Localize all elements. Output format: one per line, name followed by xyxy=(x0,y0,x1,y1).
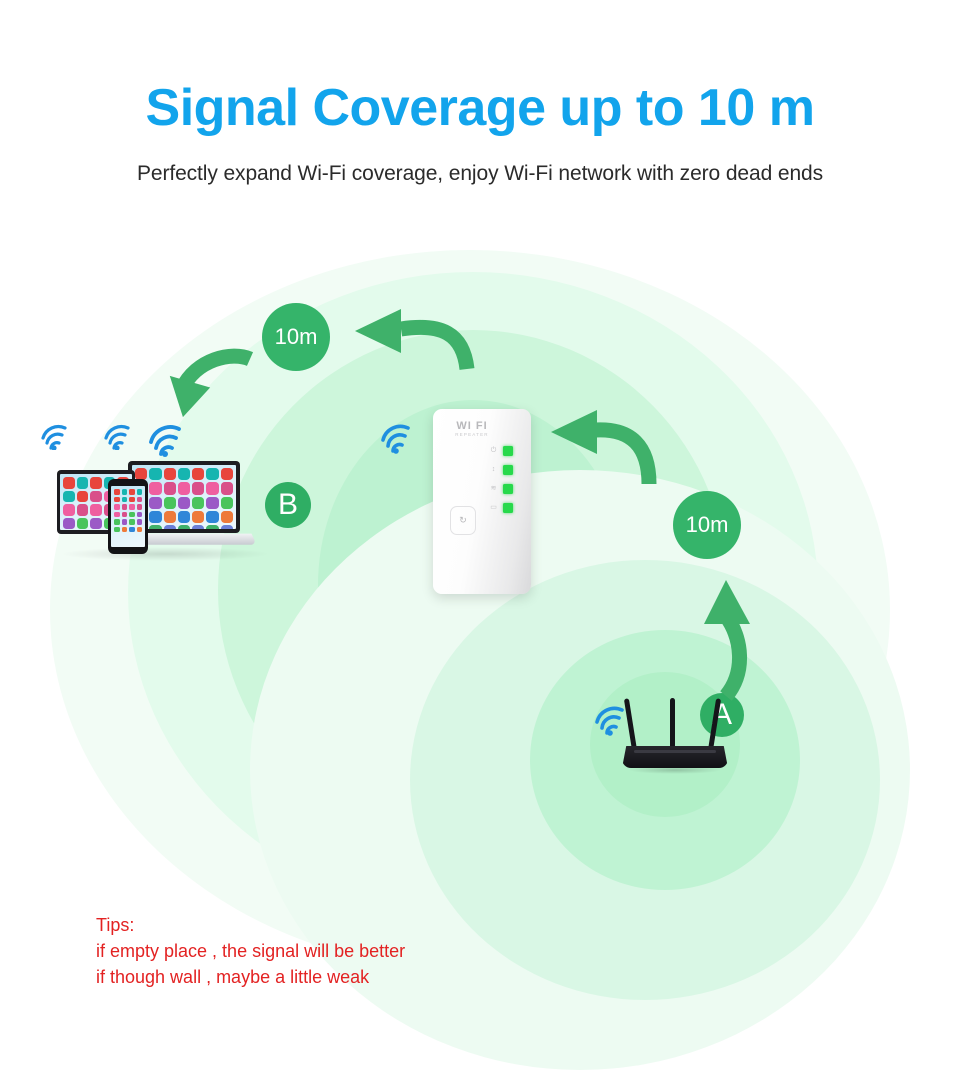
device-smartphone xyxy=(108,479,148,554)
app-icon xyxy=(192,525,204,529)
app-icon xyxy=(63,504,75,516)
app-icon xyxy=(90,518,102,530)
router-antenna xyxy=(670,698,675,750)
router-antenna xyxy=(624,698,637,750)
point-badge-b-circle: B xyxy=(265,482,311,528)
router-vent-line xyxy=(634,750,716,753)
app-icon xyxy=(178,511,190,523)
app-icon xyxy=(221,482,233,494)
app-icon xyxy=(206,511,218,523)
repeater-wps-button[interactable]: ↻ xyxy=(450,506,476,535)
router-antenna xyxy=(708,698,721,750)
app-icon xyxy=(149,525,161,529)
app-icon xyxy=(221,511,233,523)
power-led-lamp xyxy=(503,446,513,456)
arrow-router-up-icon xyxy=(690,580,770,700)
tips-line-1: if empty place , the signal will be bett… xyxy=(96,938,405,964)
app-icon xyxy=(164,497,176,509)
app-icon xyxy=(114,497,120,503)
repeater-led-row: ▭ xyxy=(489,498,525,517)
app-icon xyxy=(129,504,135,510)
router-shadow xyxy=(628,766,722,774)
app-icon xyxy=(192,511,204,523)
point-badge-b: B xyxy=(265,482,311,528)
repeater-brand: WI FI REPEATER xyxy=(444,421,500,438)
app-icon xyxy=(129,497,135,503)
tips-line-2: if though wall , maybe a little weak xyxy=(96,964,405,990)
app-icon xyxy=(77,477,89,489)
wifi-led-icon: ≋ xyxy=(489,484,498,493)
tips-block: Tips: if empty place , the signal will b… xyxy=(96,912,405,990)
app-icon xyxy=(137,504,143,510)
app-icon xyxy=(63,491,75,503)
app-icon xyxy=(178,482,190,494)
app-icon xyxy=(137,527,143,533)
app-icon xyxy=(129,527,135,533)
repeater-brand-main: WI FI xyxy=(444,421,500,432)
point-badge-b-label: B xyxy=(278,490,298,520)
app-icon xyxy=(114,504,120,510)
router-body xyxy=(622,746,728,768)
power-led-icon: ⏻ xyxy=(489,446,498,455)
app-icon xyxy=(192,497,204,509)
app-icon xyxy=(77,518,89,530)
app-icon xyxy=(90,477,102,489)
wifi-repeater-device: WI FI REPEATER ⏻ ↕ ≋ ▭ ↻ xyxy=(433,409,531,594)
wifi-router-device xyxy=(620,694,730,774)
app-icon xyxy=(137,489,143,495)
app-icon xyxy=(149,497,161,509)
app-icon xyxy=(90,504,102,516)
app-icon xyxy=(114,519,120,525)
client-device-cluster xyxy=(50,455,280,560)
wifi-signal-icon xyxy=(40,424,70,450)
app-icon xyxy=(122,489,128,495)
app-icon xyxy=(192,468,204,480)
distance-badge-right-label: 10m xyxy=(686,512,729,538)
app-icon xyxy=(206,525,218,529)
app-icon xyxy=(114,527,120,533)
lan-led-icon: ↕ xyxy=(489,465,498,474)
wifi-signal-icon xyxy=(380,424,414,454)
app-icon xyxy=(137,512,143,518)
app-icon xyxy=(178,525,190,529)
app-icon xyxy=(129,519,135,525)
lan-led-lamp xyxy=(503,465,513,475)
app-icon xyxy=(129,489,135,495)
repeater-led-row: ≋ xyxy=(489,479,525,498)
app-icon xyxy=(129,512,135,518)
app-icon xyxy=(149,511,161,523)
wps-led-lamp xyxy=(503,503,513,513)
repeater-led-panel: ⏻ ↕ ≋ ▭ xyxy=(489,441,525,517)
page-title: Signal Coverage up to 10 m xyxy=(0,0,960,134)
wifi-signal-icon xyxy=(103,424,133,450)
app-icon xyxy=(164,525,176,529)
app-icon xyxy=(149,482,161,494)
app-icon xyxy=(221,497,233,509)
distance-badge-top: 10m xyxy=(262,303,330,371)
app-icon xyxy=(149,468,161,480)
app-icon xyxy=(192,482,204,494)
app-icon xyxy=(122,497,128,503)
app-icon xyxy=(164,468,176,480)
page-subtitle: Perfectly expand Wi-Fi coverage, enjoy W… xyxy=(0,134,960,186)
app-icon xyxy=(114,489,120,495)
arrow-router-to-repeater-icon xyxy=(545,412,665,492)
repeater-led-row: ⏻ xyxy=(489,441,525,460)
app-icon xyxy=(63,518,75,530)
app-icon xyxy=(178,497,190,509)
app-icon xyxy=(63,477,75,489)
wps-led-icon: ▭ xyxy=(489,503,498,512)
app-icon xyxy=(164,482,176,494)
wps-reset-icon: ↻ xyxy=(459,515,467,526)
app-icon xyxy=(164,511,176,523)
app-icon xyxy=(122,527,128,533)
distance-badge-top-label: 10m xyxy=(275,324,318,350)
app-icon xyxy=(137,497,143,503)
app-icon xyxy=(206,482,218,494)
app-icon xyxy=(122,504,128,510)
arrow-upper-left-icon xyxy=(345,307,475,387)
app-icon xyxy=(77,491,89,503)
arrow-repeater-to-devices-icon xyxy=(150,345,260,435)
app-icon xyxy=(221,468,233,480)
header: Signal Coverage up to 10 m Perfectly exp… xyxy=(0,0,960,186)
app-icon xyxy=(137,519,143,525)
phone-screen xyxy=(111,486,145,547)
distance-badge-right: 10m xyxy=(673,491,741,559)
app-icon xyxy=(90,491,102,503)
app-icon xyxy=(206,468,218,480)
app-icon xyxy=(122,519,128,525)
app-icon xyxy=(178,468,190,480)
tips-heading: Tips: xyxy=(96,912,405,938)
app-icon xyxy=(122,512,128,518)
app-icon xyxy=(221,525,233,529)
wifi-led-lamp xyxy=(503,484,513,494)
app-icon xyxy=(114,512,120,518)
repeater-led-row: ↕ xyxy=(489,460,525,479)
app-icon xyxy=(206,497,218,509)
device-shadow xyxy=(60,547,270,561)
repeater-brand-sub: REPEATER xyxy=(444,432,500,438)
app-icon xyxy=(77,504,89,516)
